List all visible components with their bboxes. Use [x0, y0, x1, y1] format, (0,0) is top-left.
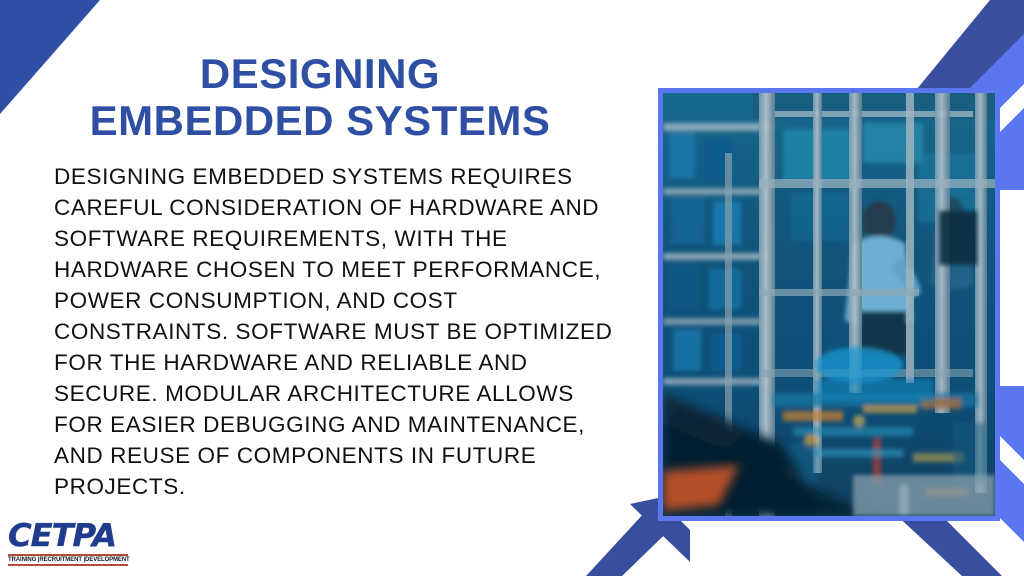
slide-body-text: DESIGNING EMBEDDED SYSTEMS REQUIRES CARE…: [54, 161, 614, 503]
photo-frame: [658, 88, 1000, 521]
title-line-1: DESIGNING: [40, 50, 600, 97]
slide-title: DESIGNING EMBEDDED SYSTEMS: [40, 50, 600, 144]
cetpa-logo: CETPA TRAINING |RECRUITMENT |DEVELOPMENT: [8, 521, 130, 566]
factory-photo: [663, 93, 995, 516]
logo-rule-bottom: [8, 564, 128, 566]
logo-rule-top: [8, 554, 128, 556]
title-line-2: EMBEDDED SYSTEMS: [40, 97, 600, 144]
logo-wordmark: CETPA: [8, 521, 135, 552]
logo-tagline: TRAINING |RECRUITMENT |DEVELOPMENT: [8, 557, 130, 563]
factory-photo-svg: [663, 93, 995, 516]
slide-canvas: DESIGNING EMBEDDED SYSTEMS DESIGNING EMB…: [0, 0, 1024, 576]
